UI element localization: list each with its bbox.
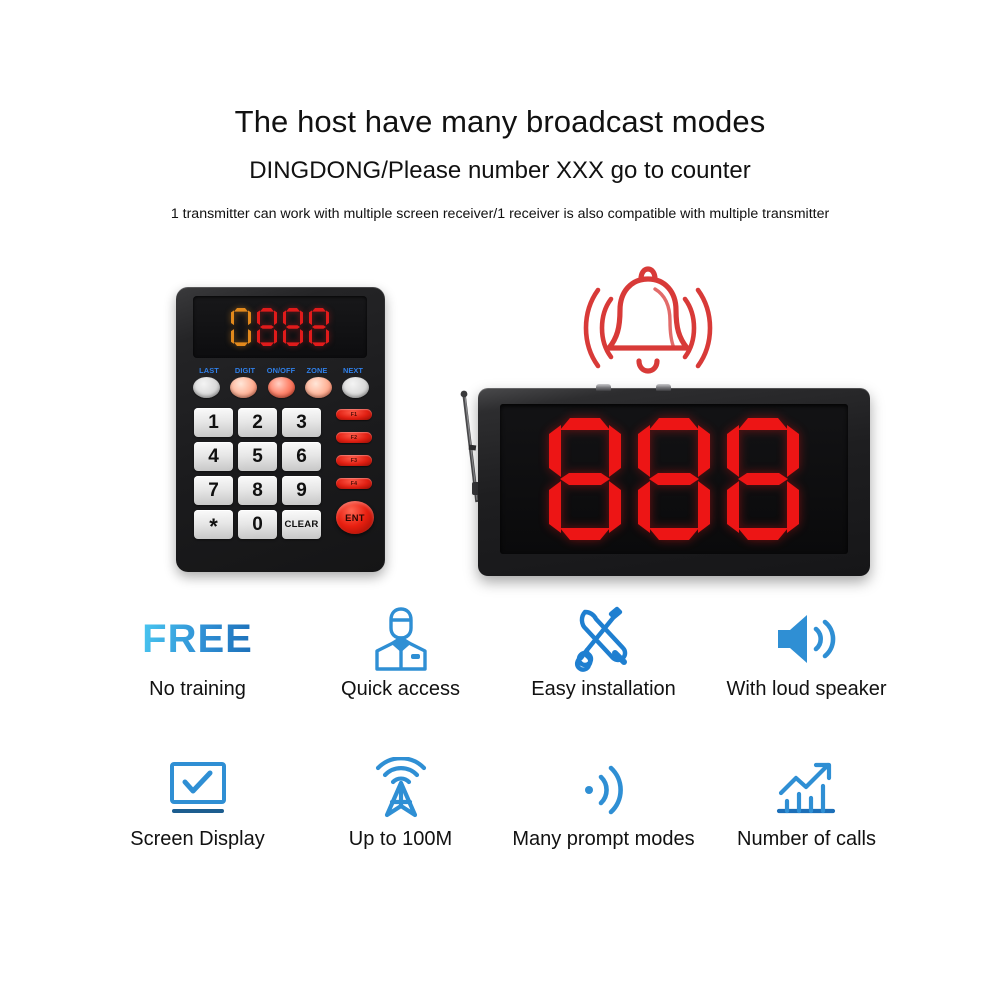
key-f4[interactable]: F4: [336, 478, 372, 489]
receiver-mount-screw-right: [656, 384, 671, 391]
function-label-zone: ZONE: [300, 366, 334, 375]
key-3[interactable]: 3: [282, 408, 321, 437]
key-enter[interactable]: ENT: [336, 501, 374, 534]
key-6[interactable]: 6: [282, 442, 321, 471]
feature-grid: FREE No training Quick access: [96, 600, 908, 900]
feature-number-of-calls: Number of calls: [705, 750, 908, 900]
free-word: FREE: [142, 619, 253, 659]
feature-label-quick-access: Quick access: [341, 678, 460, 700]
function-label-onoff: ON/OFF: [264, 366, 298, 375]
key-5[interactable]: 5: [238, 442, 277, 471]
key-9[interactable]: 9: [282, 476, 321, 505]
product-photo-stage: LAST DIGIT ON/OFF ZONE NEXT 1 2 3 4 5 6: [0, 262, 1000, 592]
round-button-zone[interactable]: [305, 377, 332, 398]
key-8[interactable]: 8: [238, 476, 277, 505]
key-2[interactable]: 2: [238, 408, 277, 437]
wrench-screwdriver-icon: [571, 600, 637, 678]
ringing-bell-icon: [578, 262, 718, 377]
free-text-icon: FREE: [142, 600, 253, 678]
loud-speaker-icon: [772, 600, 842, 678]
receiver-display-device: [478, 388, 870, 576]
key-star[interactable]: *: [194, 510, 233, 539]
transmitter-function-key-column: F1 F2 F3 F4 ENT: [336, 409, 378, 534]
feature-screen-display: Screen Display: [96, 750, 299, 900]
transmitter-round-button-row: [193, 377, 369, 398]
function-label-next: NEXT: [336, 366, 370, 375]
round-button-onoff[interactable]: [268, 377, 295, 398]
round-button-last[interactable]: [193, 377, 220, 398]
key-clear[interactable]: CLEAR: [282, 510, 321, 539]
transmitter-led-display: [193, 296, 367, 358]
key-7[interactable]: 7: [194, 476, 233, 505]
transmitter-function-label-row: LAST DIGIT ON/OFF ZONE NEXT: [192, 366, 370, 375]
function-label-last: LAST: [192, 366, 226, 375]
feature-label-no-training: No training: [149, 678, 246, 700]
signal-wave-icon: [573, 750, 635, 828]
feature-up-to-100m: Up to 100M: [299, 750, 502, 900]
key-f3[interactable]: F3: [336, 455, 372, 466]
key-f1[interactable]: F1: [336, 409, 372, 420]
key-1[interactable]: 1: [194, 408, 233, 437]
transmitter-keypad-device: LAST DIGIT ON/OFF ZONE NEXT 1 2 3 4 5 6: [176, 287, 385, 572]
staff-person-icon: [370, 600, 432, 678]
key-4[interactable]: 4: [194, 442, 233, 471]
feature-label-loud-speaker: With loud speaker: [726, 678, 886, 700]
transmitter-digit-3: [282, 308, 304, 346]
feature-many-prompt-modes: Many prompt modes: [502, 750, 705, 900]
receiver-digit-3: [727, 418, 799, 540]
monitor-check-icon: [164, 750, 232, 828]
header-text-block: The host have many broadcast modes DINGD…: [0, 104, 1000, 223]
feature-quick-access: Quick access: [299, 600, 502, 750]
transmitter-numeric-keypad: 1 2 3 4 5 6 7 8 9 * 0 CLEAR: [194, 408, 324, 539]
feature-easy-installation: Easy installation: [502, 600, 705, 750]
receiver-digit-2: [638, 418, 710, 540]
feature-label-many-prompt-modes: Many prompt modes: [512, 828, 694, 850]
round-button-next[interactable]: [342, 377, 369, 398]
function-label-digit: DIGIT: [228, 366, 262, 375]
receiver-led-screen: [500, 404, 848, 554]
receiver-mount-screw-left: [596, 384, 611, 391]
feature-no-training: FREE No training: [96, 600, 299, 750]
key-0[interactable]: 0: [238, 510, 277, 539]
bar-chart-arrow-icon: [774, 750, 840, 828]
page-tagline: 1 transmitter can work with multiple scr…: [0, 206, 1000, 223]
page-subline: DINGDONG/Please number XXX go to counter: [0, 157, 1000, 185]
feature-loud-speaker: With loud speaker: [705, 600, 908, 750]
radio-tower-icon: [369, 750, 433, 828]
transmitter-digit-2: [256, 308, 278, 346]
page-headline: The host have many broadcast modes: [0, 104, 1000, 140]
feature-label-up-to-100m: Up to 100M: [349, 828, 452, 850]
transmitter-digit-4: [308, 308, 330, 346]
transmitter-digit-1: [230, 308, 252, 346]
receiver-digit-1: [549, 418, 621, 540]
feature-label-screen-display: Screen Display: [130, 828, 265, 850]
round-button-digit[interactable]: [230, 377, 257, 398]
feature-label-number-of-calls: Number of calls: [737, 828, 876, 850]
key-f2[interactable]: F2: [336, 432, 372, 443]
feature-label-easy-installation: Easy installation: [531, 678, 676, 700]
